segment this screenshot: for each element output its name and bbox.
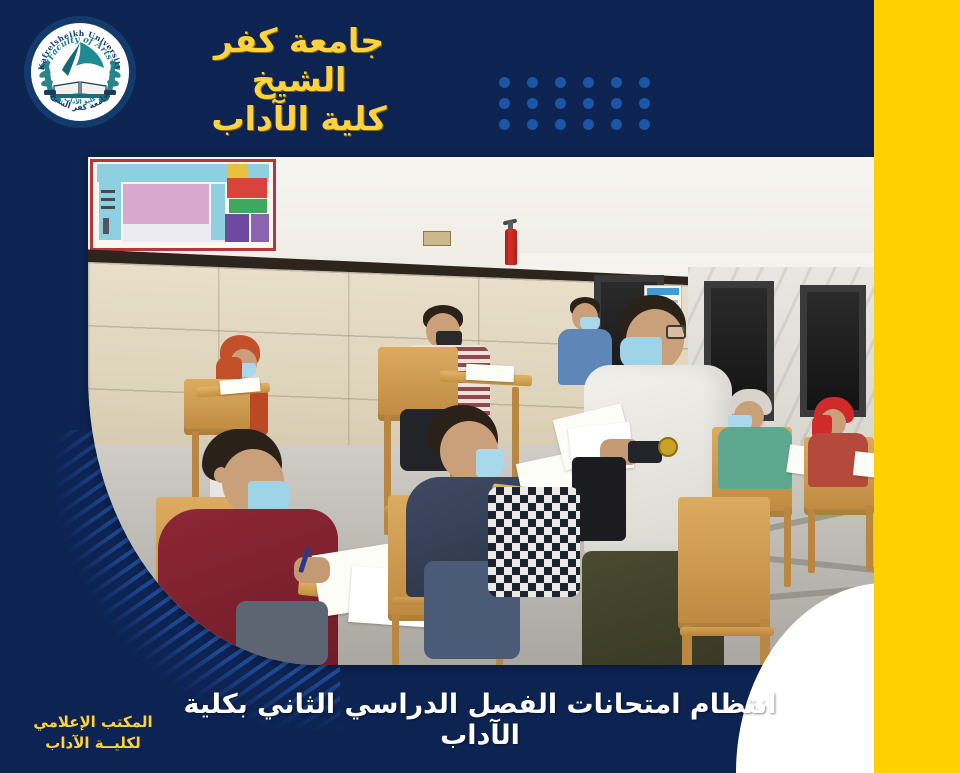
patterned-bag: [488, 487, 580, 597]
supervisor-bag: [572, 457, 626, 541]
dot: [527, 98, 538, 109]
poster-caption: انتظام امتحانات الفصل الدراسي الثاني بكل…: [160, 689, 800, 751]
media-office-line-2: لكليــة الآداب: [18, 733, 168, 755]
chair-leg: [808, 509, 815, 573]
faculty-name: كلية الآداب: [164, 100, 434, 139]
header-title-block: جامعة كفر الشيخ كلية الآداب: [164, 22, 434, 139]
dot-row: [489, 93, 650, 114]
background-yellow-band-top: [874, 0, 960, 773]
wristwatch: [658, 437, 678, 457]
chair-stretcher: [680, 627, 774, 636]
dot: [583, 98, 594, 109]
dot: [583, 119, 594, 130]
exam-chair-back: [678, 497, 770, 629]
chair-leg: [866, 505, 873, 571]
answer-sheet: [853, 451, 876, 478]
dot: [555, 119, 566, 130]
dot: [555, 98, 566, 109]
media-office-credit: المكتب الإعلامي لكليــة الآداب: [18, 712, 168, 756]
dot: [639, 98, 650, 109]
poster-header: Kafrelsheikh University Faculty of Arts …: [0, 0, 874, 157]
dot: [639, 119, 650, 130]
fire-extinguisher-icon: [503, 219, 518, 265]
wall-sign: [423, 231, 451, 246]
dot: [611, 77, 622, 88]
chair-leg: [392, 613, 399, 665]
exam-hall-photo: [88, 157, 876, 665]
photo-content: [88, 157, 876, 665]
evacuation-map-poster: [90, 159, 276, 251]
media-office-line-1: المكتب الإعلامي: [18, 712, 168, 734]
dot: [499, 77, 510, 88]
university-logo: Kafrelsheikh University Faculty of Arts …: [22, 14, 138, 130]
dot: [527, 77, 538, 88]
dot: [499, 119, 510, 130]
dot-pattern-decoration: [480, 72, 650, 134]
chair-leg: [784, 507, 791, 587]
dot: [611, 98, 622, 109]
dot: [639, 77, 650, 88]
dot: [499, 98, 510, 109]
dot: [611, 119, 622, 130]
dot-row: [480, 114, 650, 135]
dot-row: [480, 72, 650, 93]
dot: [555, 77, 566, 88]
poster-canvas: Kafrelsheikh University Faculty of Arts …: [0, 0, 960, 773]
chair-leg: [162, 635, 172, 665]
answer-sheet: [466, 364, 515, 382]
dot: [583, 77, 594, 88]
university-name: جامعة كفر الشيخ: [164, 22, 434, 100]
dot: [527, 119, 538, 130]
poster-footer: انتظام امتحانات الفصل الدراسي الثاني بكل…: [0, 665, 960, 773]
